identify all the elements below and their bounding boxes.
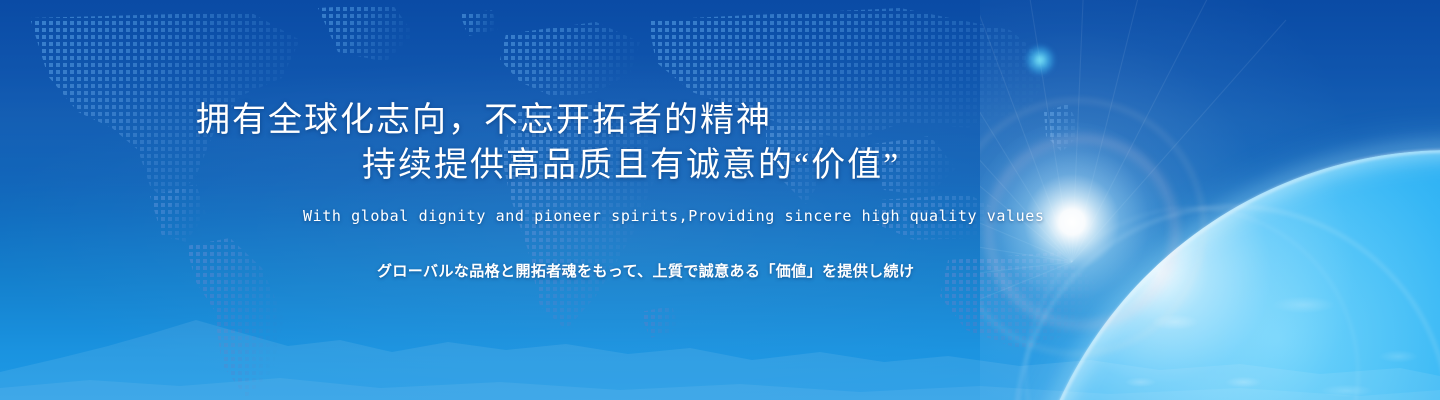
banner-copy: 拥有全球化志向，不忘开拓者的精神 持续提供高品质且有诚意的“价值” With g… bbox=[0, 0, 1150, 400]
headline-line-2: 持续提供高品质且有诚意的“价值” bbox=[362, 137, 900, 186]
hero-banner: 拥有全球化志向，不忘开拓者的精神 持续提供高品质且有诚意的“价值” With g… bbox=[0, 0, 1440, 400]
subline-japanese: グローバルな品格と開拓者魂をもって、上質で誠意ある「価値」を提供し続け bbox=[377, 260, 914, 281]
headline-line-1: 拥有全球化志向，不忘开拓者的精神 bbox=[196, 92, 772, 141]
subline-english: With global dignity and pioneer spirits,… bbox=[303, 207, 1045, 225]
